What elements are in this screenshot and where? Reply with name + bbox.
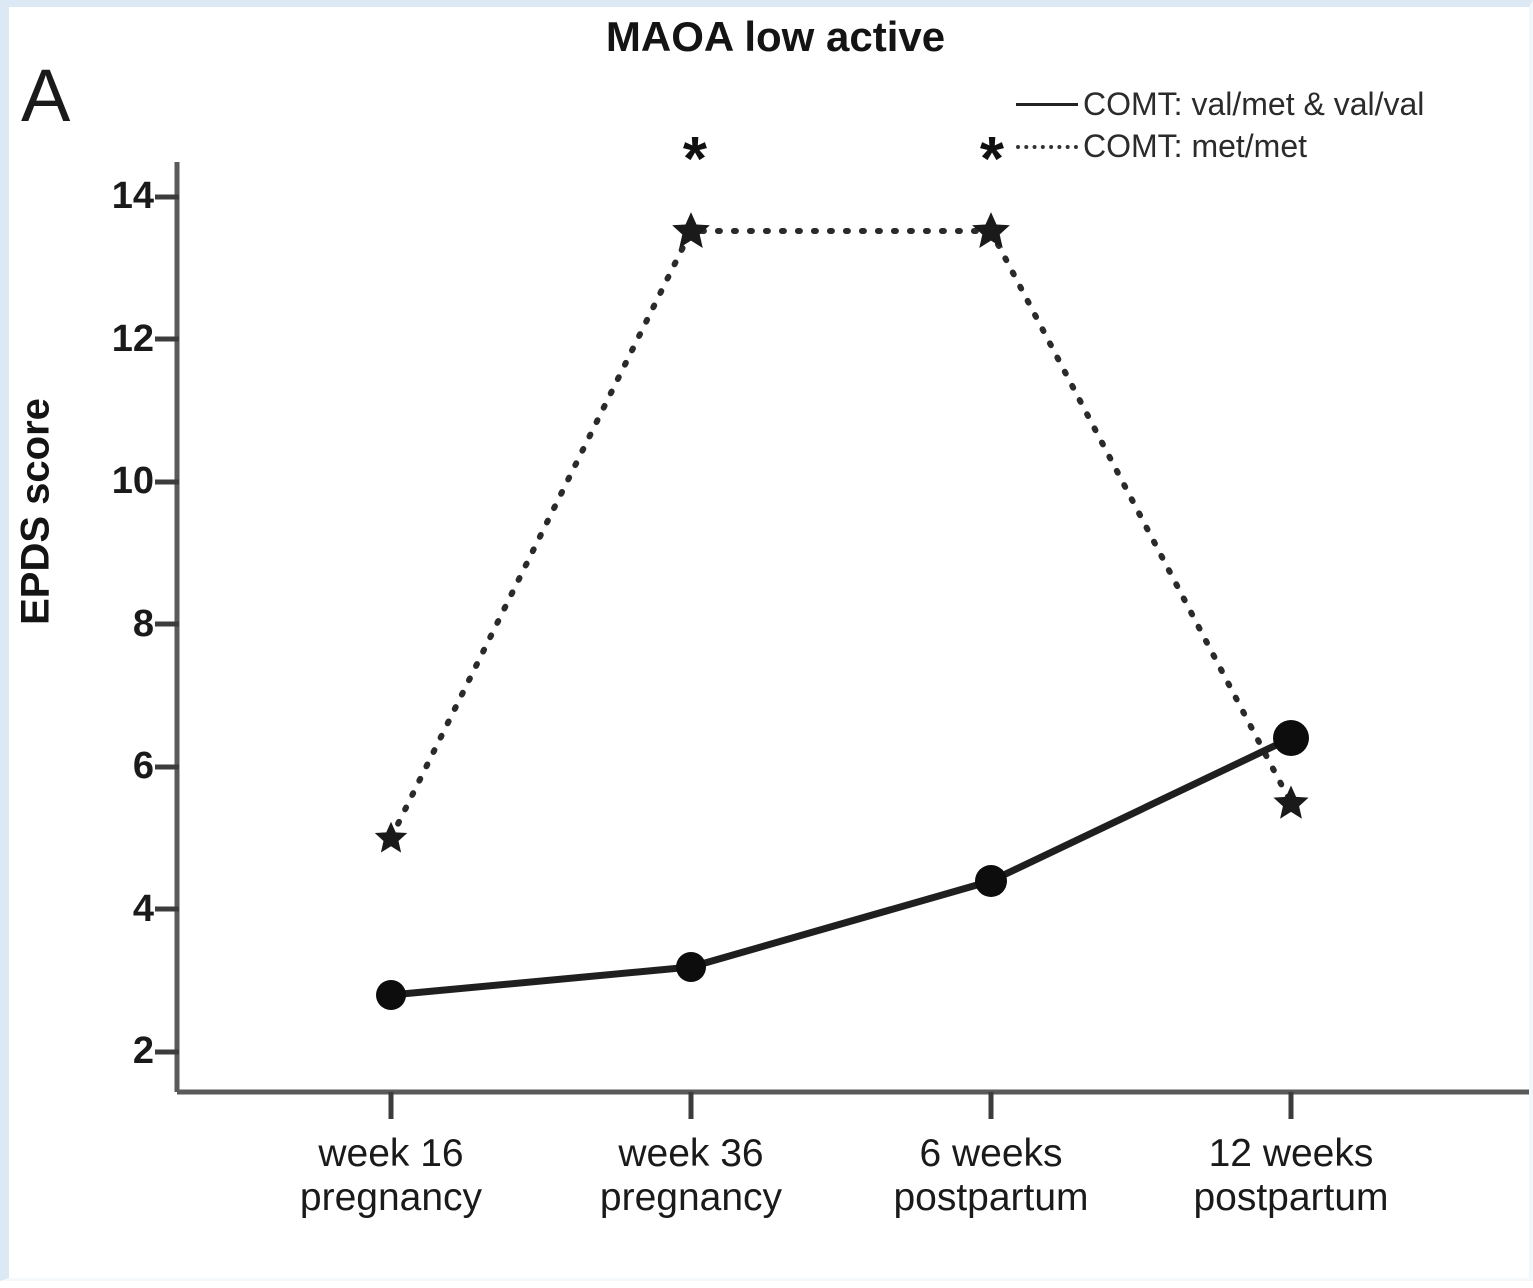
- figure-panel: MAOA low active A EPDS score COMT: val/m…: [0, 0, 1533, 1281]
- series-valmet-markers: [376, 720, 1309, 1010]
- circle-marker: [1273, 720, 1309, 756]
- series-metmet-markers: [375, 212, 1309, 852]
- circle-marker: [975, 865, 1007, 897]
- star-marker: [672, 212, 710, 248]
- series-comt-metmet: [375, 212, 1309, 852]
- series-comt-valmet-valval: [376, 720, 1309, 1010]
- x-axis-ticks: [391, 1092, 1291, 1119]
- plot-area: [9, 7, 1533, 1288]
- circle-marker: [676, 952, 706, 982]
- star-marker: [375, 822, 408, 853]
- star-marker: [1273, 785, 1308, 818]
- circle-marker: [376, 980, 406, 1010]
- star-marker: [972, 212, 1010, 248]
- axis-spines: [177, 162, 1529, 1092]
